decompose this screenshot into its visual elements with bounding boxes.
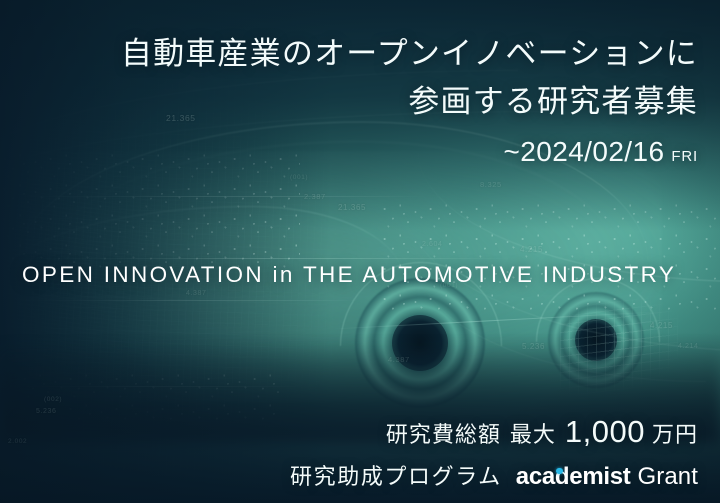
funding-amount-value: 1,000	[565, 414, 645, 450]
deadline-date: ~2024/02/16 FRI	[504, 136, 698, 168]
deadline-day-of-week: FRI	[671, 148, 698, 165]
program-brand-line: 研究助成プログラム academist Grant	[290, 459, 698, 491]
funding-qualifier: 最大	[510, 417, 556, 449]
program-label: 研究助成プログラム	[290, 459, 502, 491]
english-tagline: OPEN INNOVATION in THE AUTOMOTIVE INDUST…	[22, 262, 676, 288]
funding-amount-line: 研究費総額 最大 1,000 万円	[386, 414, 698, 450]
headline-line-2: 参画する研究者募集	[408, 86, 698, 117]
funding-amount-unit: 万円	[652, 417, 698, 449]
academist-dot-icon	[556, 468, 563, 475]
academist-wordmark: academist	[516, 463, 631, 491]
academist-grant-logo: academist Grant	[516, 463, 698, 491]
academist-wordmark-text: academist	[516, 463, 631, 490]
deadline-date-value: ~2024/02/16	[504, 136, 665, 168]
promo-poster: 21.3652.38721.3658.3252.6044.215(001)(00…	[0, 0, 720, 503]
funding-label: 研究費総額	[386, 417, 501, 449]
headline-line-1: 自動車産業のオープンイノベーションに	[121, 38, 698, 69]
grant-wordmark: Grant	[637, 463, 698, 491]
